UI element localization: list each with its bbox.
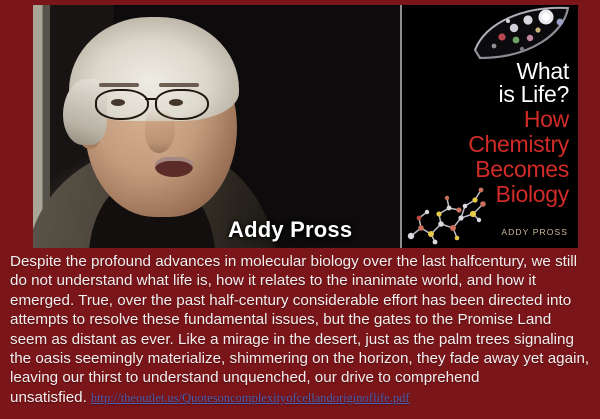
photo-eyebrow-right	[159, 83, 199, 87]
quote-block: Despite the profound advances in molecul…	[10, 252, 592, 408]
quote-text: Despite the profound advances in molecul…	[10, 253, 589, 406]
source-url-link[interactable]: http://theoutlet.us/Quotesoncomplexityof…	[87, 391, 410, 405]
photo-mouth	[155, 157, 193, 177]
speaker-photo	[33, 5, 400, 248]
book-subtitle-line2: Chemistry	[468, 133, 569, 156]
cell-diagram-icon	[472, 6, 576, 64]
media-band: Addy Pross	[33, 5, 578, 248]
book-cover: What is Life? How Chemistry Becomes Biol…	[402, 5, 578, 248]
book-author: ADDY PROSS	[501, 227, 568, 237]
glasses-lens-left	[95, 89, 149, 120]
book-title-line1: What	[468, 60, 569, 83]
photo-eyebrow-left	[99, 83, 139, 87]
book-title-line2: is Life?	[468, 83, 569, 106]
molecule-structure-icon	[403, 178, 495, 248]
book-subtitle-line1: How	[468, 108, 569, 131]
slide-root: Addy Pross	[0, 0, 600, 419]
speaker-name-caption: Addy Pross	[228, 217, 352, 243]
